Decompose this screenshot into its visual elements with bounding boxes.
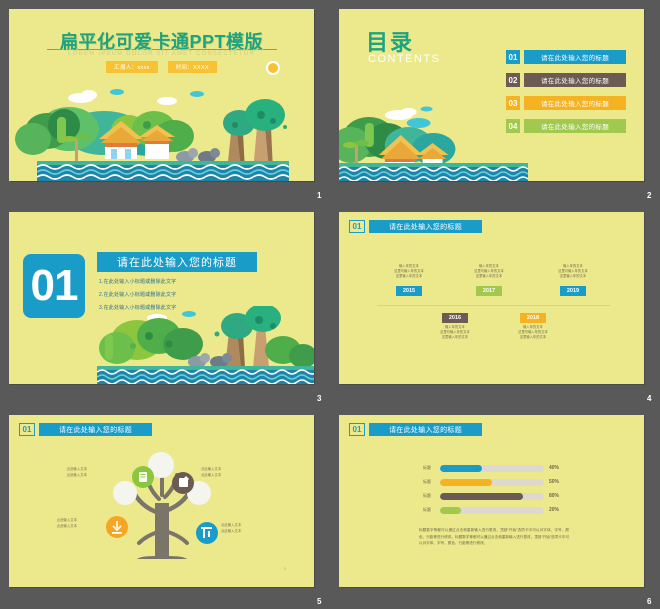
slide-cell-2: 目录 CONTENTS bbox=[330, 0, 660, 203]
slide-6[interactable]: 01 请在此处输入您的标题 标题 40% 标题 50% bbox=[339, 415, 644, 587]
toc-label: 请在此处输入您的标题 bbox=[524, 96, 626, 110]
slide-cell-3: 01 请在此处输入您的标题 1.在此处输入小标题或删除此文字 2.在此处输入小标… bbox=[0, 203, 330, 406]
slide-5[interactable]: 01 请在此处输入您的标题 bbox=[9, 415, 314, 587]
toc-item-02[interactable]: 02 请在此处输入您的标题 bbox=[506, 73, 626, 87]
slide-cell-5: 01 请在此处输入您的标题 bbox=[0, 406, 330, 609]
jungle-illustration-small bbox=[339, 101, 528, 181]
slide-thumbnail-grid: 扁平化可爱卡通PPT模版 LOREM IPSUM DOLOR SIT AMET … bbox=[0, 0, 660, 609]
page-number: 3 bbox=[317, 394, 322, 403]
slide-cell-1: 扁平化可爱卡通PPT模版 LOREM IPSUM DOLOR SIT AMET … bbox=[0, 0, 330, 203]
toc-label: 请在此处输入您的标题 bbox=[524, 50, 626, 64]
slide-header: 01 请在此处输入您的标题 bbox=[349, 423, 482, 436]
timeline-item-2017[interactable]: 输入年的文本这里可输入年的文本这里输入年的文本 2017 bbox=[457, 264, 521, 298]
progress-row-4[interactable]: 标题 20% bbox=[419, 505, 569, 515]
timeline-text: 输入年的文本这里可输入年的文本这里输入年的文本 bbox=[541, 264, 605, 279]
sun-icon bbox=[266, 61, 280, 75]
bar-label: 标题 bbox=[419, 465, 435, 471]
bar-percent: 20% bbox=[549, 507, 569, 513]
toc-number: 01 bbox=[506, 50, 520, 64]
slide-1[interactable]: 扁平化可爱卡通PPT模版 LOREM IPSUM DOLOR SIT AMET … bbox=[9, 9, 314, 181]
section-title: 请在此处输入您的标题 bbox=[97, 252, 257, 272]
timeline-item-2018[interactable]: 2018 输入年的文本这里可输入年的文本这里输入年的文本 bbox=[501, 306, 565, 340]
bar-label: 标题 bbox=[419, 493, 435, 499]
toc-label: 请在此处输入您的标题 bbox=[524, 119, 626, 133]
header-title: 请在此处输入您的标题 bbox=[39, 423, 152, 436]
jungle-illustration-section bbox=[97, 306, 314, 384]
timeline-year: 2018 bbox=[520, 313, 546, 323]
slide1-subtitle: LOREM IPSUM DOLOR SIT AMET CONSECTETUR bbox=[9, 51, 314, 57]
table-of-contents: 01 请在此处输入您的标题 02 请在此处输入您的标题 03 请在此处输入您的标… bbox=[506, 50, 626, 142]
tree-label-bottom-left: 点此输入文本点此输入文本 bbox=[29, 518, 77, 530]
bullet-1: 1.在此处输入小标题或删除此文字 bbox=[99, 278, 176, 285]
bar-track bbox=[440, 465, 544, 472]
bar-fill bbox=[440, 465, 482, 472]
toc-item-04[interactable]: 04 请在此处输入您的标题 bbox=[506, 119, 626, 133]
timeline-year: 2015 bbox=[396, 286, 422, 296]
bar-percent: 50% bbox=[549, 479, 569, 485]
slide-2[interactable]: 目录 CONTENTS bbox=[339, 9, 644, 181]
page-number: 5 bbox=[317, 597, 322, 606]
timeline-text: 输入年的文本这里可输入年的文本这里输入年的文本 bbox=[423, 325, 487, 340]
timeline-year: 2019 bbox=[560, 286, 586, 296]
date-badge: 时间：XXXX bbox=[168, 61, 217, 73]
bar-label: 标题 bbox=[419, 507, 435, 513]
bar-track bbox=[440, 479, 544, 486]
timeline-axis bbox=[377, 305, 610, 306]
progress-row-2[interactable]: 标题 50% bbox=[419, 477, 569, 487]
bar-percent: 40% bbox=[549, 465, 569, 471]
progress-row-3[interactable]: 标题 80% bbox=[419, 491, 569, 501]
tree-label-bottom-right: 点此输入文本点此输入文本 bbox=[221, 523, 269, 535]
bar-fill bbox=[440, 479, 492, 486]
progress-row-1[interactable]: 标题 40% bbox=[419, 463, 569, 473]
slide-header: 01 请在此处输入您的标题 bbox=[19, 423, 152, 436]
bar-track bbox=[440, 493, 544, 500]
page-number: 1 bbox=[317, 191, 322, 200]
page-number: 6 bbox=[647, 597, 652, 606]
timeline-text: 输入年的文本这里可输入年的文本这里输入年的文本 bbox=[377, 264, 441, 279]
header-number: 01 bbox=[19, 423, 35, 436]
header-number: 01 bbox=[349, 423, 365, 436]
header-title: 请在此处输入您的标题 bbox=[369, 220, 482, 233]
timeline-text: 输入年的文本这里可输入年的文本这里输入年的文本 bbox=[501, 325, 565, 340]
bar-label: 标题 bbox=[419, 479, 435, 485]
section-number-badge: 01 bbox=[23, 254, 85, 318]
tree-label-top-left: 点此输入文本点此输入文本 bbox=[39, 467, 87, 479]
toc-number: 02 bbox=[506, 73, 520, 87]
tree-label-top-right: 点此输入文本点此输入文本 bbox=[201, 467, 249, 479]
timeline-year: 2017 bbox=[476, 286, 502, 296]
body-paragraph: 标题数字等都可以通过点击和重新输入进行更改，顶部“开始”选项卡中可以对字体、字号… bbox=[419, 527, 569, 547]
page-number: 4 bbox=[647, 394, 652, 403]
inner-page-number: 5 bbox=[284, 566, 286, 571]
jungle-illustration bbox=[9, 81, 314, 181]
bar-percent: 80% bbox=[549, 493, 569, 499]
header-title: 请在此处输入您的标题 bbox=[369, 423, 482, 436]
page-number: 2 bbox=[647, 191, 652, 200]
slide-3[interactable]: 01 请在此处输入您的标题 1.在此处输入小标题或删除此文字 2.在此处输入小标… bbox=[9, 212, 314, 384]
toc-number: 03 bbox=[506, 96, 520, 110]
bullet-2: 2.在此处输入小标题或删除此文字 bbox=[99, 291, 176, 298]
timeline-item-2015[interactable]: 输入年的文本这里可输入年的文本这里输入年的文本 2015 bbox=[377, 264, 441, 298]
slide-4[interactable]: 01 请在此处输入您的标题 输入年的文本这里可输入年的文本这里输入年的文本 20… bbox=[339, 212, 644, 384]
bar-fill bbox=[440, 493, 523, 500]
slide-cell-4: 01 请在此处输入您的标题 输入年的文本这里可输入年的文本这里输入年的文本 20… bbox=[330, 203, 660, 406]
timeline-item-2016[interactable]: 2016 输入年的文本这里可输入年的文本这里输入年的文本 bbox=[423, 306, 487, 340]
header-number: 01 bbox=[349, 220, 365, 233]
bar-fill bbox=[440, 507, 461, 514]
toc-item-01[interactable]: 01 请在此处输入您的标题 bbox=[506, 50, 626, 64]
toc-item-03[interactable]: 03 请在此处输入您的标题 bbox=[506, 96, 626, 110]
timeline-text: 输入年的文本这里可输入年的文本这里输入年的文本 bbox=[457, 264, 521, 279]
toc-number: 04 bbox=[506, 119, 520, 133]
slide-header: 01 请在此处输入您的标题 bbox=[349, 220, 482, 233]
timeline-item-2019[interactable]: 输入年的文本这里可输入年的文本这里输入年的文本 2019 bbox=[541, 264, 605, 298]
bar-track bbox=[440, 507, 544, 514]
toc-label: 请在此处输入您的标题 bbox=[524, 73, 626, 87]
timeline-year: 2016 bbox=[442, 313, 468, 323]
slide-cell-6: 01 请在此处输入您的标题 标题 40% 标题 50% bbox=[330, 406, 660, 609]
progress-bar-list: 标题 40% 标题 50% 标题 bbox=[419, 463, 569, 519]
presenter-badge: 汇报人：xxxx bbox=[106, 61, 157, 73]
contents-heading-en: CONTENTS bbox=[368, 53, 441, 65]
